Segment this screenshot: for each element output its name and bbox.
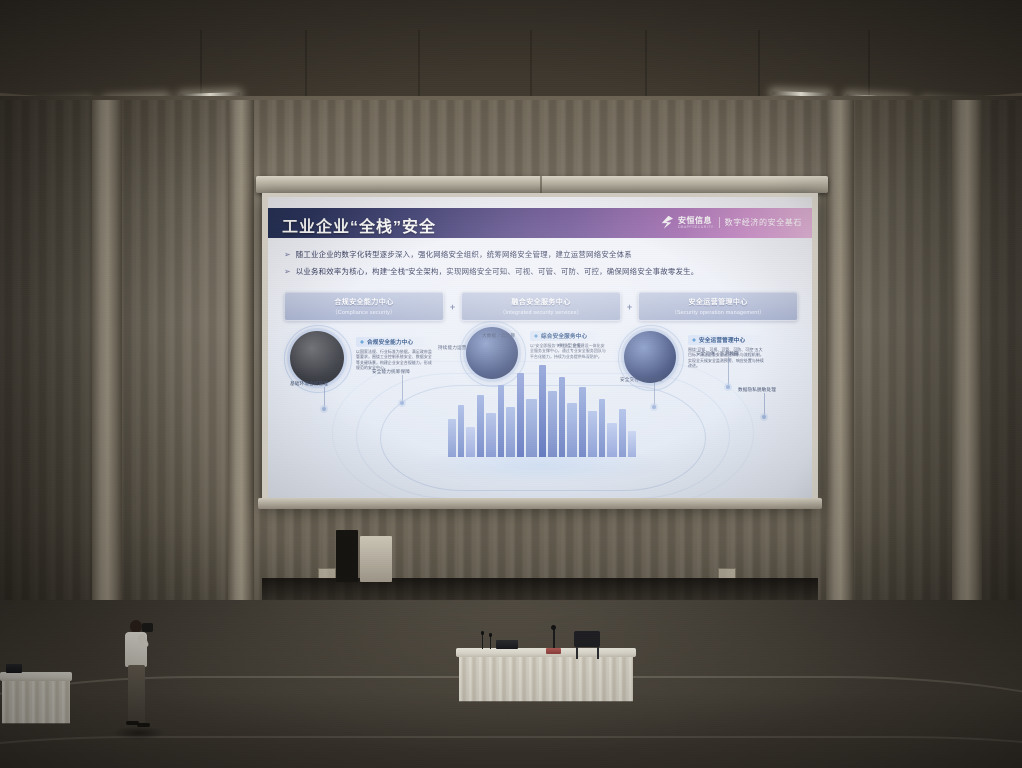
callout-title: 安全运营管理中心: [699, 336, 745, 344]
microphone-head-icon: [551, 625, 556, 630]
presentation-slide: 工业企业“全栈”安全 安恒信息 DBAPPSECURITY 数字经济的安全基石 …: [268, 197, 812, 499]
pin-label: 安全运维／监测预警: [696, 351, 739, 357]
floor-arc-line: [0, 736, 1022, 768]
logo-subname: DBAPPSECURITY: [678, 226, 714, 230]
callout-compliance: 合规安全能力中心 以国家法规、行业标准为依据，满足政府监管要求，围绕工业控制系统…: [356, 337, 432, 371]
table-skirt: [2, 681, 70, 724]
callout-header: 综合安全服务中心: [530, 331, 606, 341]
chair-back: [574, 631, 600, 647]
microphone-stand: [490, 636, 491, 649]
table-equipment: [6, 664, 22, 673]
table-skirt: [459, 657, 633, 702]
microphone-stand: [553, 628, 555, 649]
slide-title: 工业企业“全栈”安全: [282, 213, 436, 237]
hall-pillar: [92, 100, 122, 620]
pillar-box-title: 安全运营管理中心: [689, 297, 748, 307]
table-top: [0, 672, 72, 681]
city-skyline-illustration: [444, 353, 640, 457]
drape-shadow-left: [0, 96, 250, 636]
company-logo: 安恒信息 DBAPPSECURITY 数字经济的安全基石: [661, 215, 802, 230]
callout-title: 合规安全能力中心: [367, 338, 413, 346]
pin-label: 中小型企业: [558, 343, 582, 349]
diamond-icon: [534, 334, 538, 338]
pin-label: 大数据／云计算: [482, 333, 515, 339]
logo-tagline: 数字经济的安全基石: [725, 217, 802, 228]
bullet-item: ➢ 随工业企业的数字化转型逐步深入，强化网络安全组织，统筹网络安全管理，建立运营…: [284, 249, 798, 260]
plus-separator-icon: +: [627, 302, 632, 312]
callout-title: 综合安全服务中心: [541, 332, 587, 340]
pillar-box-subtitle: （Integrated security services）: [500, 308, 582, 316]
callout-header: 合规安全能力中心: [356, 337, 432, 347]
microphone-head-icon: [481, 631, 484, 635]
hall-pillar: [952, 100, 982, 620]
stage-speaker-box: [336, 530, 358, 582]
bullet-text: 以业务和效率为核心，构建“全栈”安全架构，实现网络安全可知、可视、可管、可防、可…: [296, 266, 699, 277]
pin-label: 安全能力统筹保障: [372, 369, 410, 375]
pin-label: 持续能力运营: [438, 345, 466, 351]
slide-diagram: 合规安全能力中心 以国家法规、行业标准为依据，满足政府监管要求，围绕工业控制系统…: [268, 325, 812, 499]
camera-icon: [142, 623, 153, 632]
pin-label: 安全交付与交付验收: [620, 377, 663, 383]
bullet-item: ➢ 以业务和效率为核心，构建“全栈”安全架构，实现网络安全可知、可视、可管、可防…: [284, 266, 798, 277]
bullet-text: 随工业企业的数字化转型逐步深入，强化网络安全组织，统筹网络安全管理，建立运营网络…: [296, 249, 632, 260]
screen-valance: [256, 176, 828, 193]
pillar-box-services: 融合安全服务中心 （Integrated security services）: [461, 292, 621, 321]
pillar-box-row: 合规安全能力中心 （Compliance security） + 融合安全服务中…: [284, 292, 798, 321]
pillar-box-title: 融合安全服务中心: [511, 297, 570, 307]
person-shadow: [112, 726, 166, 740]
red-name-plate: [546, 648, 561, 654]
plus-separator-icon: +: [450, 302, 455, 312]
slide-bullet-list: ➢ 随工业企业的数字化转型逐步深入，强化网络安全组织，统筹网络安全管理，建立运营…: [284, 249, 798, 283]
diamond-icon: [692, 338, 696, 342]
valance-seam: [540, 176, 542, 193]
bullet-arrow-icon: ➢: [284, 249, 291, 260]
person-shoe: [137, 723, 150, 727]
pillar-box-subtitle: （Compliance security）: [332, 308, 396, 316]
screen-bottom-bar: [258, 498, 822, 509]
person-legs: [128, 665, 145, 723]
callout-body: 以国家法规、行业标准为依据，满足政府监管要求，围绕工业控制系统安全、数据安全等关…: [356, 349, 432, 371]
pillar-box-compliance: 合规安全能力中心 （Compliance security）: [284, 292, 444, 321]
pillar-box-operations: 安全运营管理中心 （Security operation management）: [638, 292, 798, 321]
callout-header: 安全运营管理中心: [688, 335, 766, 345]
pillar-box-subtitle: （Security operation management）: [671, 308, 764, 316]
diamond-icon: [360, 340, 364, 344]
lightning-bolt-icon: [661, 216, 673, 229]
pin-label: 基础环境合规管理: [290, 381, 328, 387]
logo-divider: [719, 217, 720, 228]
microphone-head-icon: [489, 633, 492, 637]
stage-podium: [360, 536, 392, 582]
photo-stage: 工业企业“全栈”安全 安恒信息 DBAPPSECURITY 数字经济的安全基石 …: [0, 0, 1022, 768]
laptop-device: [496, 640, 518, 649]
pin-label: 数据隐私脱敏处理: [738, 387, 776, 393]
hall-pillar: [228, 100, 254, 620]
pillar-box-title: 合规安全能力中心: [334, 297, 393, 307]
microphone-stand: [482, 634, 483, 649]
bullet-arrow-icon: ➢: [284, 266, 291, 277]
hall-pillar: [826, 100, 854, 620]
